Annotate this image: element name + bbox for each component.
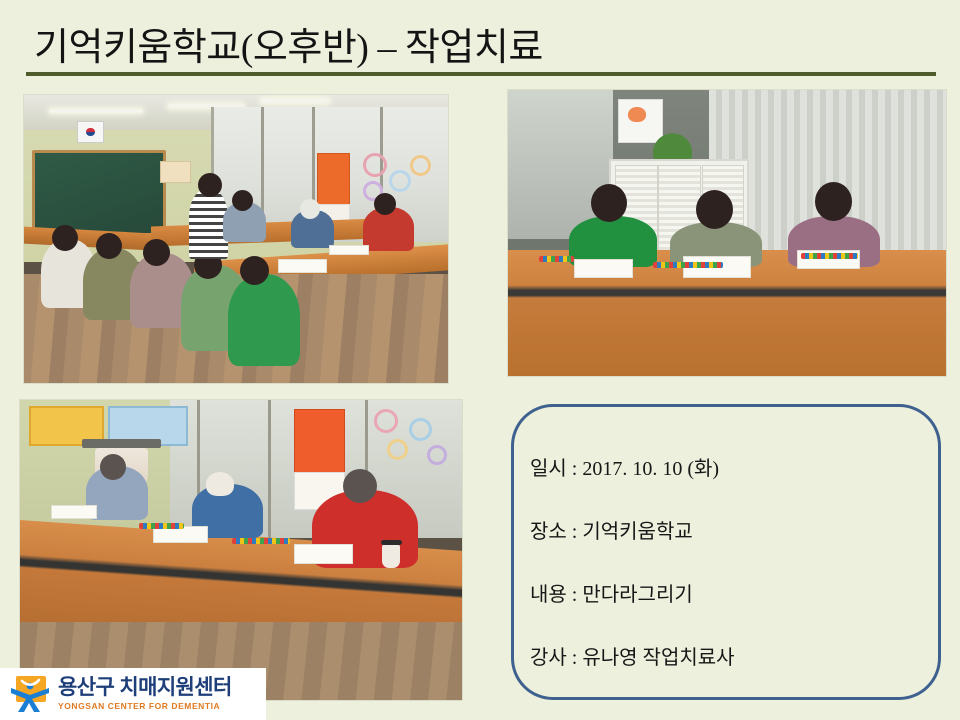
logo-text: 용산구 치매지원센터 YONGSAN CENTER FOR DEMENTIA (58, 677, 232, 711)
organization-logo: 용산구 치매지원센터 YONGSAN CENTER FOR DEMENTIA (0, 668, 266, 720)
photo-table3 (508, 90, 946, 376)
info-line-place: 장소 : 기억키움학교 (530, 515, 932, 544)
info-line-content: 내용 : 만다라그리기 (530, 578, 932, 607)
info-line-date: 일시 : 2017. 10. 10 (화) (530, 452, 932, 481)
mandala-men-scene (20, 400, 462, 700)
classroom-scene (24, 95, 448, 383)
logo-english-name: YONGSAN CENTER FOR DEMENTIA (58, 702, 232, 711)
page-title: 기억키움학교(오후반) – 작업치료 (34, 16, 543, 71)
logo-mark-icon (10, 674, 50, 714)
photo-classroom (24, 95, 448, 383)
info-lines: 일시 : 2017. 10. 10 (화) 장소 : 기억키움학교 내용 : 만… (512, 452, 932, 704)
title-divider (26, 72, 936, 76)
mandala-women-scene (508, 90, 946, 376)
info-line-lecturer: 강사 : 유나영 작업치료사 (530, 641, 932, 670)
slide-canvas: 기억키움학교(오후반) – 작업치료 (0, 0, 960, 720)
photo-men (20, 400, 462, 700)
logo-korean-name: 용산구 치매지원센터 (58, 677, 232, 698)
